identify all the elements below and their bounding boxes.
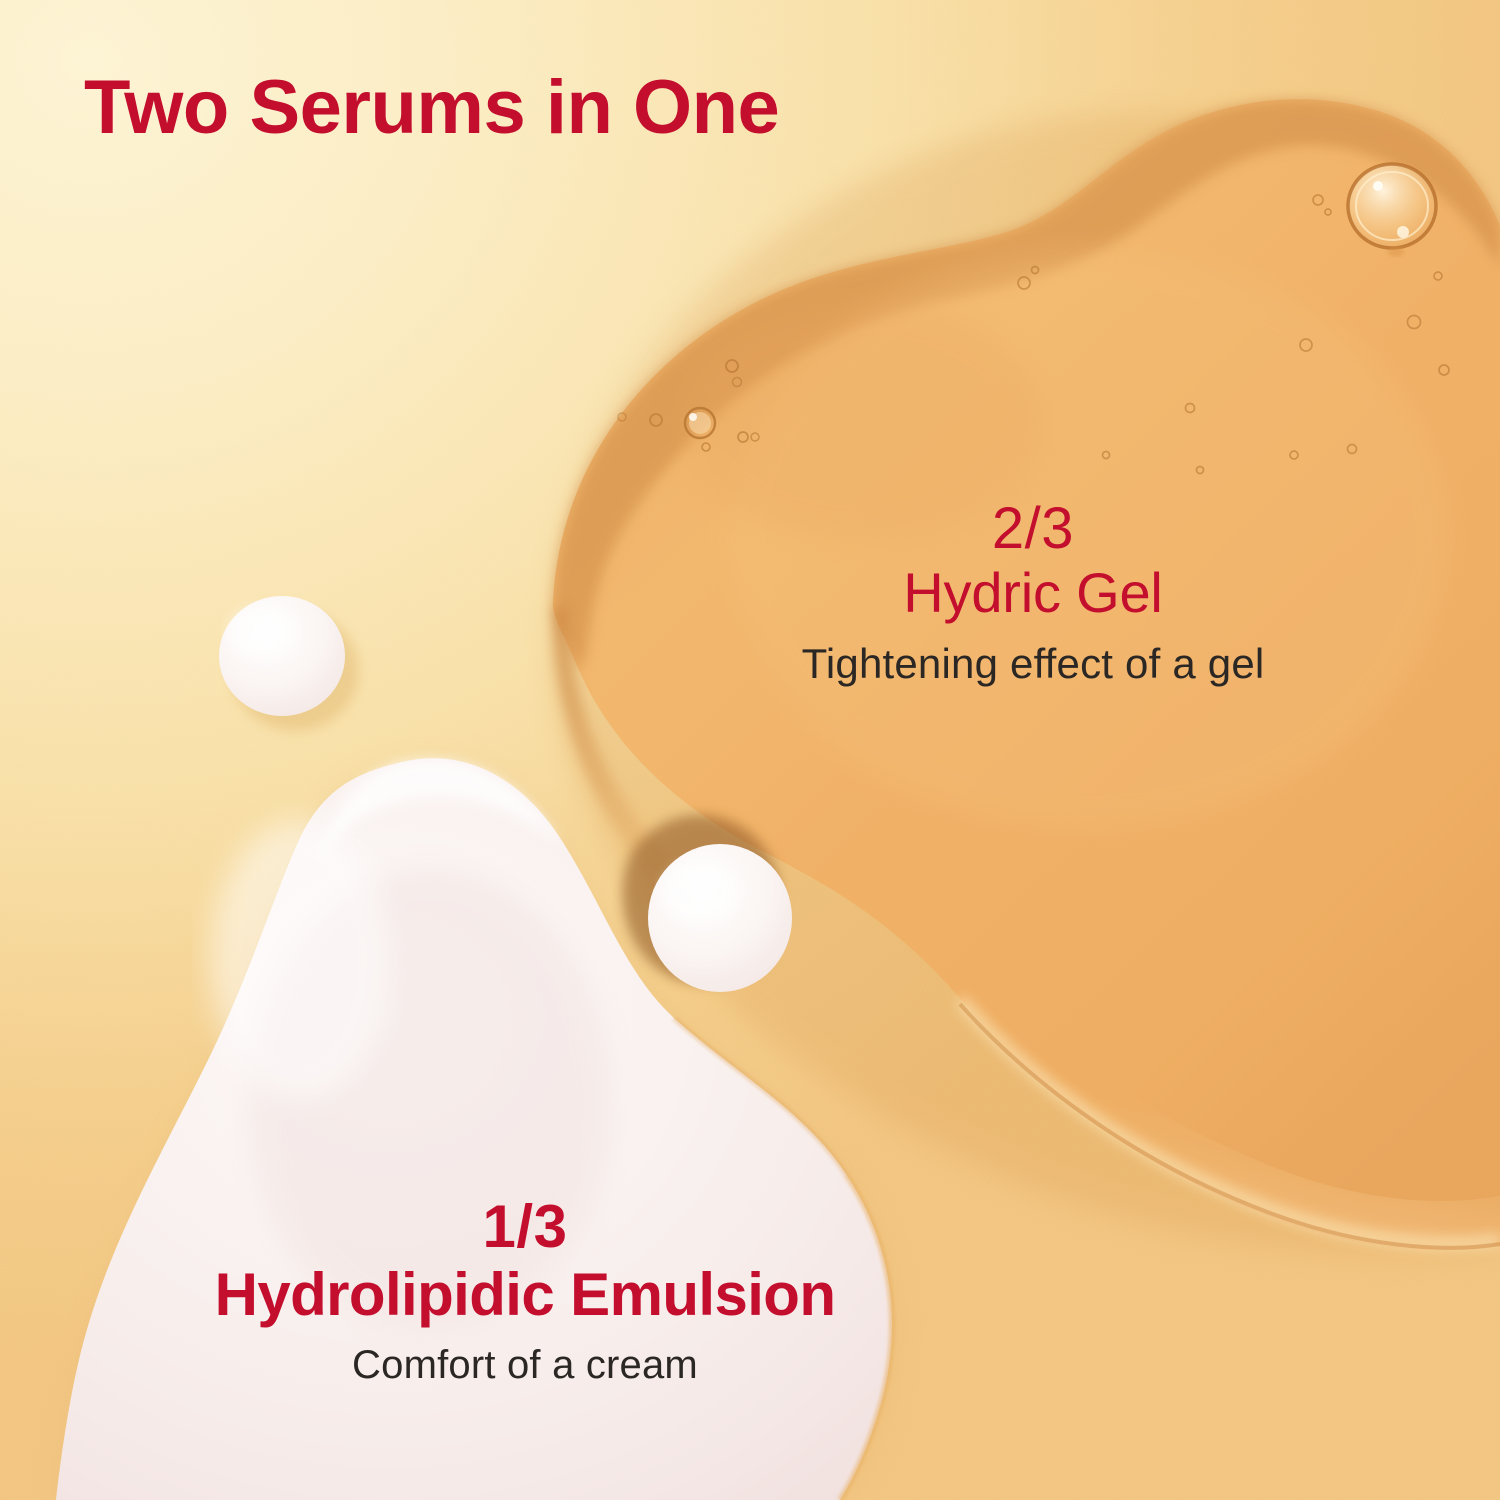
page-title: Two Serums in One	[84, 68, 779, 148]
callout-name: Hydrolipidic Emulsion	[110, 1260, 940, 1329]
product-texture-visual: Two Serums in One 2/3 Hydric Gel Tighten…	[0, 0, 1500, 1500]
emulsion-droplet-small-left	[219, 596, 359, 731]
callout-subtitle: Comfort of a cream	[110, 1341, 940, 1389]
callout-fraction: 2/3	[728, 498, 1338, 561]
callout-hydric-gel: 2/3 Hydric Gel Tightening effect of a ge…	[728, 498, 1338, 689]
callout-name: Hydric Gel	[728, 561, 1338, 625]
callout-subtitle: Tightening effect of a gel	[728, 639, 1338, 689]
callout-fraction: 1/3	[110, 1195, 940, 1260]
callout-hydrolipidic-emulsion: 1/3 Hydrolipidic Emulsion Comfort of a c…	[110, 1195, 940, 1389]
